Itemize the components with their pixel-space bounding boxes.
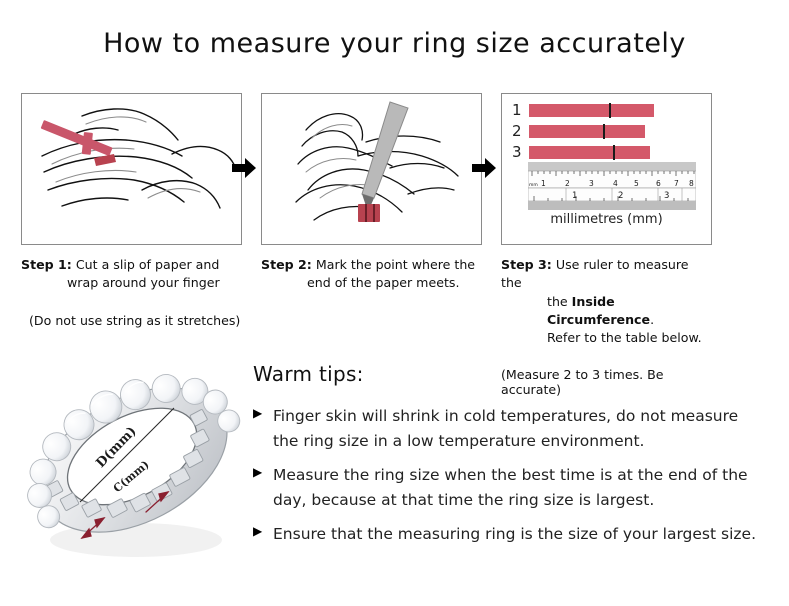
page-title: How to measure your ring size accurately bbox=[0, 28, 789, 59]
strip-number: 1 bbox=[512, 103, 529, 118]
hand-with-pen-marking-icon bbox=[262, 94, 481, 244]
step-2-line2: end of the paper meets. bbox=[261, 274, 482, 292]
steps-row: Step 1: Cut a slip of paper and wrap aro… bbox=[0, 93, 789, 343]
step-3-line2: the Inside Circumference. bbox=[501, 293, 712, 330]
bullet-triangle-icon: ▶ bbox=[253, 522, 273, 537]
warm-tips-heading: Warm tips: bbox=[253, 362, 758, 386]
svg-text:1: 1 bbox=[541, 179, 546, 188]
svg-text:1: 1 bbox=[572, 191, 577, 201]
hand-with-paper-strip-icon bbox=[22, 94, 241, 244]
step-3-line3: Refer to the table below. bbox=[501, 329, 712, 347]
step-1-caption: Step 1: Cut a slip of paper and wrap aro… bbox=[21, 256, 242, 293]
step-1-line2: wrap around your finger bbox=[21, 274, 242, 292]
tip-text: Measure the ring size when the best time… bbox=[273, 463, 758, 513]
svg-text:3: 3 bbox=[589, 179, 594, 188]
tip-item: ▶ Finger skin will shrink in cold temper… bbox=[253, 404, 758, 454]
paper-strips-group: 1 2 3 bbox=[512, 102, 654, 165]
svg-text:4: 4 bbox=[613, 179, 618, 188]
svg-text:3: 3 bbox=[664, 191, 669, 201]
strip-row: 2 bbox=[512, 123, 654, 140]
warm-tips-section: Warm tips: ▶ Finger skin will shrink in … bbox=[253, 362, 758, 557]
ruler-icon: 12 34 56 78 mm 123 bbox=[528, 162, 696, 210]
svg-text:7: 7 bbox=[674, 179, 679, 188]
strip-mark-3 bbox=[613, 145, 615, 160]
tip-text: Ensure that the measuring ring is the si… bbox=[273, 522, 758, 547]
strip-row: 1 bbox=[512, 102, 654, 119]
svg-text:2: 2 bbox=[618, 191, 623, 201]
strip-number: 2 bbox=[512, 124, 529, 139]
step-3-panel: 1 2 3 bbox=[501, 93, 712, 245]
svg-text:2: 2 bbox=[565, 179, 570, 188]
step-2-column: Step 2: Mark the point where the end of … bbox=[261, 93, 482, 293]
step-2-line1: Mark the point where the bbox=[316, 257, 475, 272]
bullet-triangle-icon: ▶ bbox=[253, 404, 273, 419]
strip-mark-1 bbox=[609, 103, 611, 118]
strip-row: 3 bbox=[512, 144, 654, 161]
strip-mark-2 bbox=[603, 124, 605, 139]
strip-number: 3 bbox=[512, 145, 529, 160]
arrow-right-icon-1 bbox=[231, 155, 257, 181]
step-1-note: (Do not use string as it stretches) bbox=[21, 313, 242, 328]
step-2-label: Step 2: bbox=[261, 257, 312, 272]
bullet-triangle-icon: ▶ bbox=[253, 463, 273, 478]
strip-bar-2 bbox=[529, 125, 645, 138]
svg-text:5: 5 bbox=[634, 179, 639, 188]
step-3-caption: Step 3: Use ruler to measure the the Ins… bbox=[501, 256, 712, 347]
strip-bar-3 bbox=[529, 146, 650, 159]
strip-bar-1 bbox=[529, 104, 654, 117]
step-3-label: Step 3: bbox=[501, 257, 552, 272]
svg-text:6: 6 bbox=[656, 179, 661, 188]
step-1-label: Step 1: bbox=[21, 257, 72, 272]
ruler-unit-caption: millimetres (mm) bbox=[502, 212, 711, 227]
step-1-column: Step 1: Cut a slip of paper and wrap aro… bbox=[21, 93, 242, 328]
arrow-right-icon-2 bbox=[471, 155, 497, 181]
step-2-panel bbox=[261, 93, 482, 245]
step-3-line2-post: . bbox=[650, 312, 654, 327]
step-1-panel bbox=[21, 93, 242, 245]
svg-text:mm: mm bbox=[529, 183, 538, 188]
step-1-line1: Cut a slip of paper and bbox=[76, 257, 219, 272]
step-2-caption: Step 2: Mark the point where the end of … bbox=[261, 256, 482, 293]
step-3-line2-pre: the bbox=[547, 294, 572, 309]
svg-text:8: 8 bbox=[689, 179, 694, 188]
pen-icon bbox=[362, 102, 408, 212]
ring-diagram: D(mm) C(mm) bbox=[18, 352, 250, 577]
tip-item: ▶ Ensure that the measuring ring is the … bbox=[253, 522, 758, 547]
tip-item: ▶ Measure the ring size when the best ti… bbox=[253, 463, 758, 513]
step-3-column: 1 2 3 bbox=[501, 93, 712, 397]
tip-text: Finger skin will shrink in cold temperat… bbox=[273, 404, 758, 454]
